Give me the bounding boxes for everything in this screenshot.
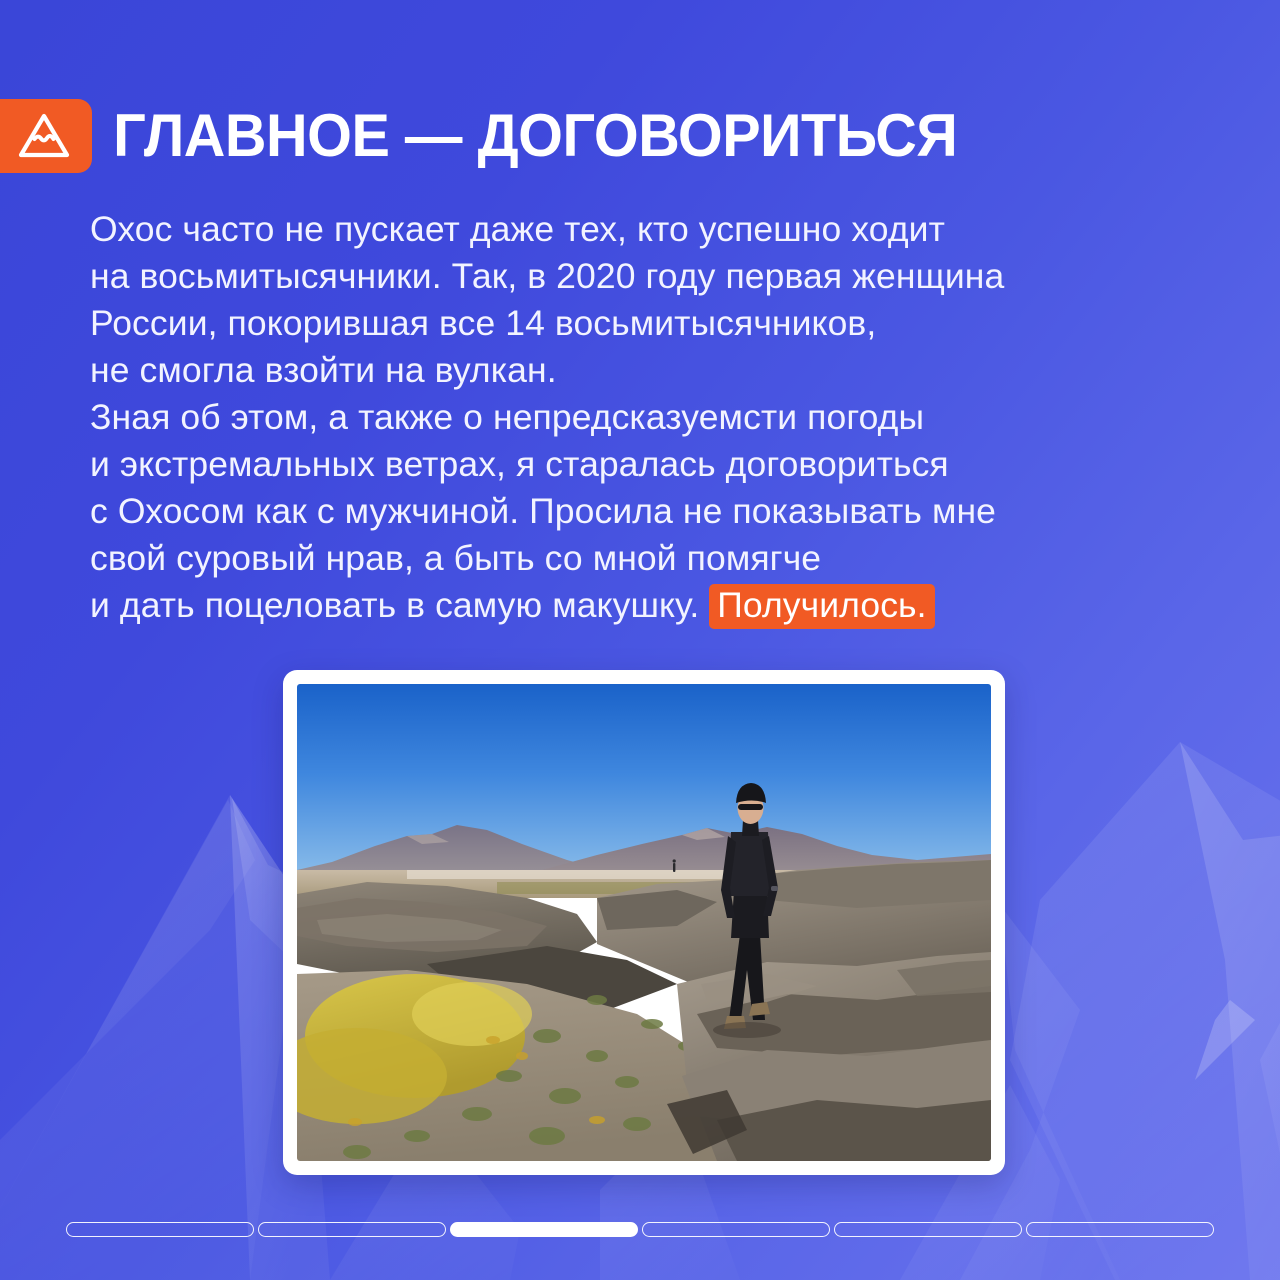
photo-image xyxy=(297,684,991,1161)
copy-line-final: и дать поцеловать в самую макушку. Получ… xyxy=(90,582,1260,629)
copy-line: и экстремальных ветрах, я старалась дого… xyxy=(90,441,1260,488)
progress-segment-2[interactable] xyxy=(258,1222,446,1237)
copy-line: не смогла взойти на вулкан. xyxy=(90,347,1260,394)
progress-segment-1[interactable] xyxy=(66,1222,254,1237)
copy-line-final-text: и дать поцеловать в самую макушку. xyxy=(90,585,709,625)
progress-segment-5[interactable] xyxy=(834,1222,1022,1237)
slide-header: ГЛАВНОЕ — ДОГОВОРИТЬСЯ xyxy=(0,96,993,176)
progress-segment-4[interactable] xyxy=(642,1222,830,1237)
copy-line: свой суровый нрав, а быть со мной помягч… xyxy=(90,535,1260,582)
progress-segment-3[interactable] xyxy=(450,1222,638,1237)
progress-segment-6[interactable] xyxy=(1026,1222,1214,1237)
copy-line: России, покорившая все 14 восьмитысячник… xyxy=(90,300,1260,347)
copy-line: Зная об этом, а также о непредсказуемсти… xyxy=(90,394,1260,441)
progress-bar[interactable] xyxy=(66,1222,1214,1237)
highlight-badge: Получилось. xyxy=(709,584,934,629)
copy-line: на восьмитысячники. Так, в 2020 году пер… xyxy=(90,253,1260,300)
mountain-icon xyxy=(15,111,73,161)
paragraph-2: Зная об этом, а также о непредсказуемсти… xyxy=(90,394,1260,629)
photo-card xyxy=(283,670,1005,1175)
slide-root: ГЛАВНОЕ — ДОГОВОРИТЬСЯ Охос часто не пус… xyxy=(0,0,1280,1280)
copy-line: с Охосом как с мужчиной. Просила не пока… xyxy=(90,488,1260,535)
brand-logo-badge xyxy=(0,99,92,173)
body-copy: Охос часто не пускает даже тех, кто успе… xyxy=(90,206,1260,629)
copy-line: Охос часто не пускает даже тех, кто успе… xyxy=(90,206,1260,253)
paragraph-1: Охос часто не пускает даже тех, кто успе… xyxy=(90,206,1260,394)
page-title: ГЛАВНОЕ — ДОГОВОРИТЬСЯ xyxy=(92,106,957,166)
photo-illustration xyxy=(297,684,991,1161)
